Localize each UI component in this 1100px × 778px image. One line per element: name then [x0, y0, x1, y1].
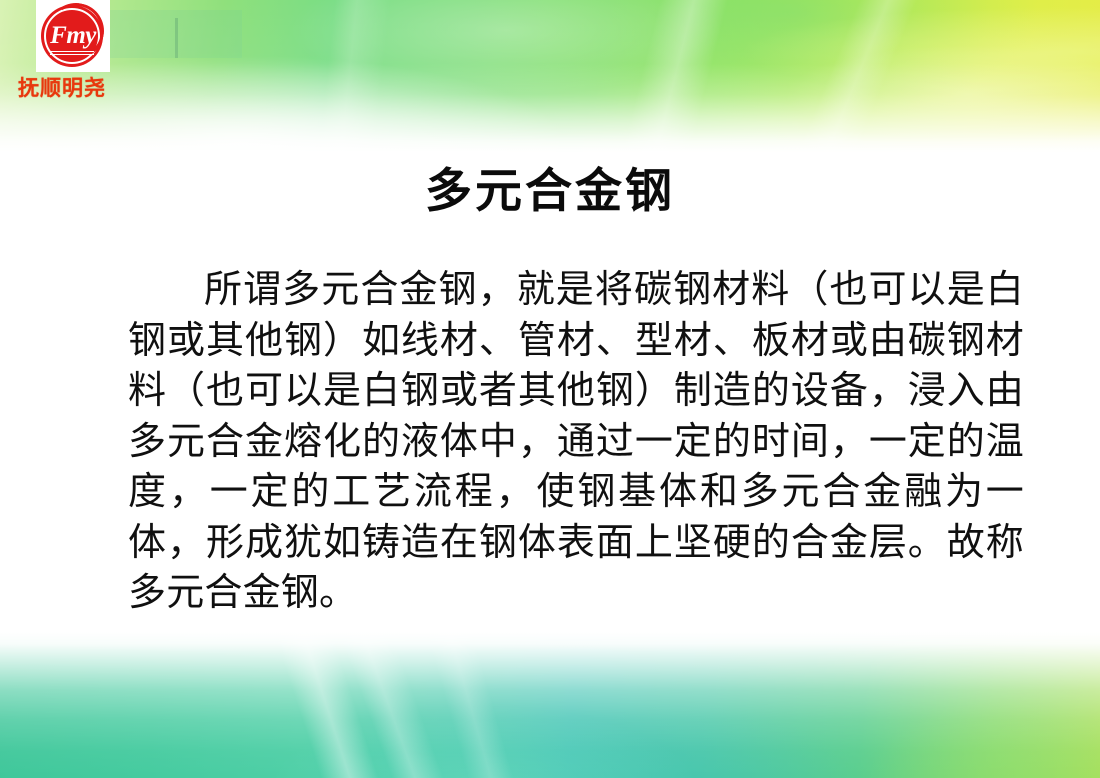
slide-content: 多元合金钢 所谓多元合金钢，就是将碳钢材料（也可以是白钢或其他钢）如线材、管材、… [0, 152, 1100, 642]
bottom-decorative-band [0, 632, 1100, 778]
company-name-label: 抚顺明尧 [18, 77, 132, 100]
slide-title: 多元合金钢 [0, 166, 1100, 219]
bottom-band-white-fade [0, 632, 1100, 778]
presentation-slide: Fmy 抚顺明尧 多元合金钢 所谓多元合金钢，就是将碳钢材料（也可以是白钢或其他… [0, 0, 1100, 778]
company-logo: Fmy 抚顺明尧 [12, 0, 132, 100]
logo-underline-rule [50, 51, 94, 55]
top-decorative-band [0, 0, 1100, 152]
logo-monogram-text: Fmy [50, 23, 96, 48]
slide-body-paragraph: 所谓多元合金钢，就是将碳钢材料（也可以是白钢或其他钢）如线材、管材、型材、板材或… [128, 264, 1024, 618]
logo-mark-fmy: Fmy [36, 0, 110, 72]
top-band-white-fade [0, 0, 1100, 152]
